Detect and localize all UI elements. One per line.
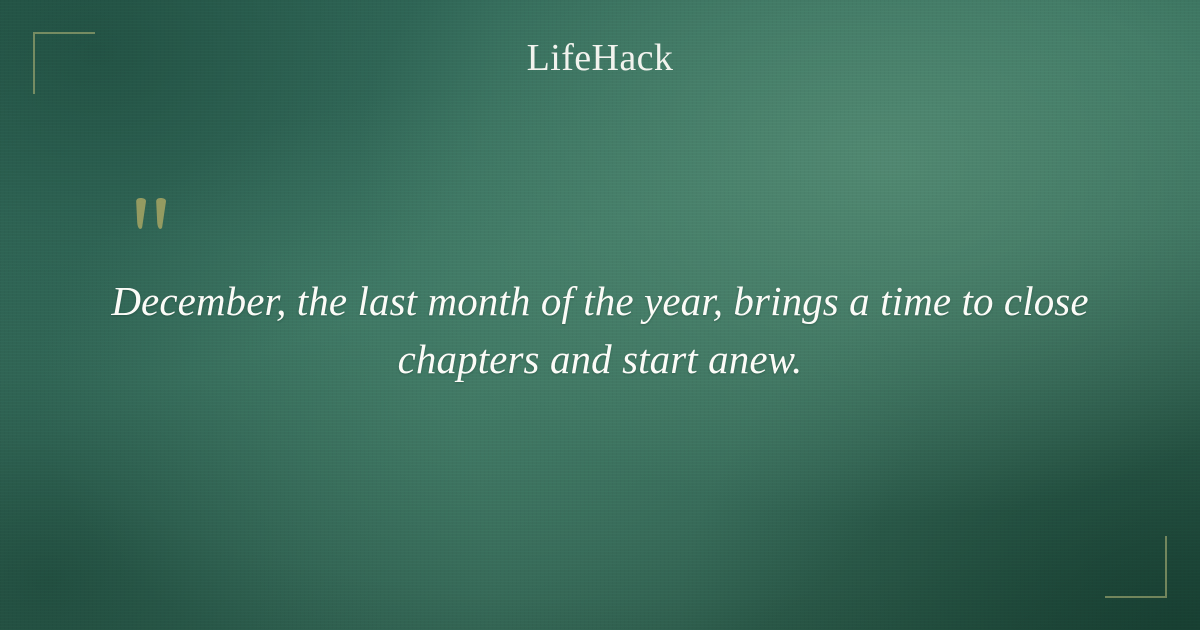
quote-block: December, the last month of the year, br… <box>100 196 1100 388</box>
double-quote-icon <box>130 196 1100 248</box>
quote-text: December, the last month of the year, br… <box>100 272 1100 388</box>
brand-logo: LifeHack <box>0 38 1200 80</box>
quote-line-1: December, the last month of the year, br… <box>111 278 1088 324</box>
quote-line-2: chapters and start anew. <box>398 336 803 382</box>
quote-card: LifeHack December, the last month of the… <box>0 0 1200 630</box>
corner-bracket-bottom-right-icon <box>1105 536 1167 598</box>
